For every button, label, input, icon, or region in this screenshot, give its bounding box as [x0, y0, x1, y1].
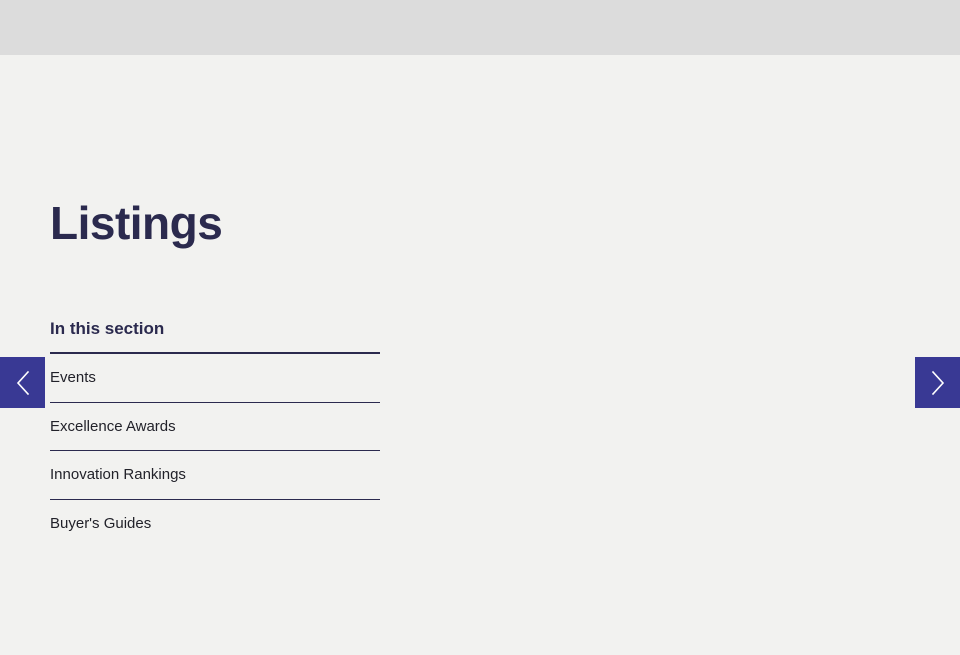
section-link-buyers-guides[interactable]: Buyer's Guides — [50, 500, 380, 548]
section-link-excellence-awards[interactable]: Excellence Awards — [50, 403, 380, 451]
page-title: Listings — [50, 200, 380, 246]
section-link-events[interactable]: Events — [50, 354, 380, 402]
chevron-left-icon — [15, 370, 31, 396]
chevron-right-icon — [930, 370, 946, 396]
list-item: Buyer's Guides — [50, 499, 380, 548]
carousel-prev-button[interactable] — [0, 357, 45, 408]
section-link-innovation-rankings[interactable]: Innovation Rankings — [50, 451, 380, 499]
top-band — [0, 0, 960, 55]
section-nav-list: Events Excellence Awards Innovation Rank… — [50, 352, 380, 547]
content-column: Listings In this section Events Excellen… — [50, 200, 380, 246]
carousel-next-button[interactable] — [915, 357, 960, 408]
list-item: Innovation Rankings — [50, 450, 380, 499]
list-item: Events — [50, 354, 380, 402]
section-nav-heading: In this section — [50, 319, 164, 339]
list-item: Excellence Awards — [50, 402, 380, 451]
page-canvas: Listings In this section Events Excellen… — [0, 55, 960, 655]
